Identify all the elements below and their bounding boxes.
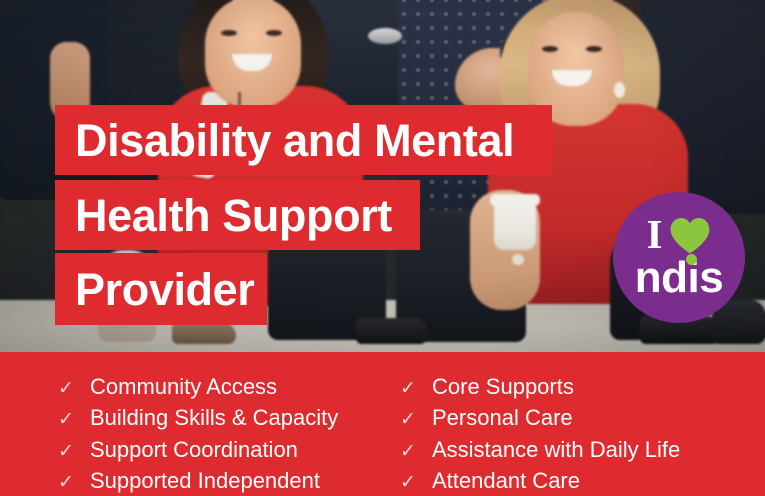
check-icon: ✓ — [400, 442, 418, 461]
services-column-right: ✓ Core Supports ✓ Personal Care ✓ Assist… — [400, 372, 740, 495]
headline-line-2-text: Health Support — [75, 193, 392, 238]
headline-line-1: Disability and Mental — [55, 105, 552, 175]
check-icon: ✓ — [58, 442, 76, 461]
ndis-wordmark-container: ndis — [635, 256, 723, 300]
service-item: ✓ Attendant Care — [400, 466, 740, 495]
service-item: ✓ Community Access — [58, 372, 388, 401]
check-icon: ✓ — [58, 473, 76, 492]
service-item: ✓ Support Coordination — [58, 435, 388, 464]
service-item: ✓ Building Skills & Capacity — [58, 403, 388, 432]
headline-line-1-text: Disability and Mental — [75, 118, 514, 163]
check-icon: ✓ — [400, 379, 418, 398]
headline-line-3: Provider — [55, 253, 267, 325]
service-item: ✓ Supported Independent — [58, 466, 388, 495]
check-icon: ✓ — [400, 473, 418, 492]
heart-icon — [669, 216, 711, 254]
service-label: Building Skills & Capacity — [90, 403, 338, 432]
check-icon: ✓ — [400, 410, 418, 429]
ndis-wordmark: ndis — [635, 253, 723, 302]
service-label: Community Access — [90, 372, 277, 401]
ndis-i-letter: I — [647, 217, 663, 252]
services-columns: ✓ Community Access ✓ Building Skills & C… — [0, 372, 765, 495]
check-icon: ✓ — [58, 410, 76, 429]
service-label: Core Supports — [432, 372, 574, 401]
service-item: ✓ Personal Care — [400, 403, 740, 432]
service-item: ✓ Core Supports — [400, 372, 740, 401]
services-banner: ✓ Community Access ✓ Building Skills & C… — [0, 352, 765, 496]
headline-line-3-text: Provider — [75, 267, 254, 312]
service-label: Attendant Care — [432, 466, 580, 495]
service-item: ✓ Assistance with Daily Life — [400, 435, 740, 464]
service-label: Supported Independent — [90, 466, 320, 495]
headline-line-2: Health Support — [55, 180, 420, 250]
poster-root: Disability and Mental Health Support Pro… — [0, 0, 765, 496]
ndis-logo[interactable]: I ndis — [613, 192, 745, 323]
services-column-left: ✓ Community Access ✓ Building Skills & C… — [58, 372, 388, 495]
service-label: Personal Care — [432, 403, 573, 432]
service-label: Support Coordination — [90, 435, 298, 464]
ndis-logo-top-row: I — [647, 216, 712, 254]
ndis-i-dot — [686, 254, 697, 265]
service-label: Assistance with Daily Life — [432, 435, 680, 464]
check-icon: ✓ — [58, 379, 76, 398]
